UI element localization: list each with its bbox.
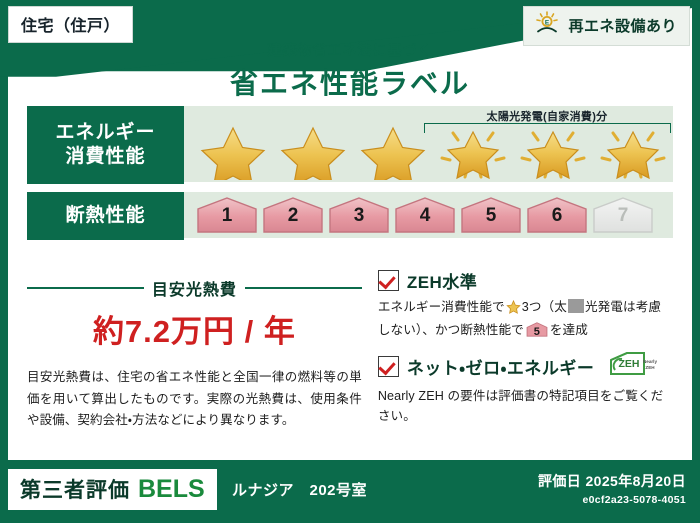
zeh-standard-title: ZEH水準 <box>407 268 478 293</box>
inline-insulation-level-number: 5 <box>526 324 548 342</box>
label-heading: 建築物省エネ法に基づく 省エネ性能ラベル <box>0 40 700 102</box>
energy-performance-label-line2: 消費性能 <box>65 145 145 169</box>
star-1-filled <box>194 124 272 180</box>
performance-block: エネルギー 消費性能 太陽光発電(自家消費)分 <box>27 106 673 248</box>
rule-left <box>27 287 144 289</box>
zeh-standard-body-stars: 3つ（太 <box>522 300 567 314</box>
insulation-level-4-number: 4 <box>394 205 456 227</box>
insulation-level-2: 2 <box>262 196 324 234</box>
insulation-level-6-number: 6 <box>526 205 588 227</box>
svg-text:E: E <box>545 19 550 26</box>
zeh-standard-body: エネルギー消費性能で3つ（太光発電は考慮しない）、かつ断熱性能で5を達成 <box>378 297 673 341</box>
energy-performance-label-line1: エネルギー <box>55 121 155 145</box>
svg-text:Nearly: Nearly <box>643 359 657 364</box>
building-type-tag: 住宅（住戸） <box>8 6 133 43</box>
star-rating <box>184 124 672 180</box>
insulation-performance-row: 断熱性能 <box>27 192 673 240</box>
insulation-level-4: 4 <box>394 196 456 234</box>
star-3-filled <box>354 124 432 180</box>
utility-cost-column: 目安光熱費 約7.2万円 / 年 目安光熱費は、住宅の省エネ性能と全国一律の燃料… <box>27 268 372 448</box>
insulation-level-7-number: 7 <box>592 205 654 227</box>
zeh-standard-item: ZEH水準 エネルギー消費性能で3つ（太光発電は考慮しない）、かつ断熱性能で5を… <box>378 268 673 341</box>
sun-icon: E <box>534 11 560 40</box>
net-zero-energy-item: ネット・ゼロ・エネルギー ZEH Nearly ZEH Nearly ZEH の… <box>378 351 673 427</box>
zeh-standard-body-part3: を達成 <box>550 323 588 337</box>
svg-text:ZEH: ZEH <box>619 358 640 370</box>
insulation-level-scale: 1 2 3 <box>184 196 654 234</box>
net-zero-energy-title: ネット・ゼロ・エネルギー <box>407 354 595 379</box>
energy-performance-stars-area: 太陽光発電(自家消費)分 <box>184 106 673 182</box>
insulation-level-5-number: 5 <box>460 205 522 227</box>
checkmark-icon-net-zero-energy <box>378 356 399 377</box>
renewable-energy-badge: E 再エネ設備あり <box>523 6 690 46</box>
checks-column: ZEH水準 エネルギー消費性能で3つ（太光発電は考慮しない）、かつ断熱性能で5を… <box>372 268 673 448</box>
lower-section: 目安光熱費 約7.2万円 / 年 目安光熱費は、住宅の省エネ性能と全国一律の燃料… <box>27 268 673 448</box>
utility-cost-value: 約7.2万円 / 年 <box>27 306 362 351</box>
checkmark-icon-zeh-standard <box>378 270 399 291</box>
inline-star-icon <box>506 300 521 320</box>
insulation-level-5: 5 <box>460 196 522 234</box>
renewable-energy-badge-label: 再エネ設備あり <box>568 15 677 36</box>
energy-performance-label: 住宅（住戸） E 再エネ設備あり 建築物省エネ法に基づく 省エネ性能ラベル <box>0 0 700 523</box>
zeh-standard-header: ZEH水準 <box>378 268 673 293</box>
rule-right <box>245 287 362 289</box>
net-zero-energy-header: ネット・ゼロ・エネルギー ZEH Nearly ZEH <box>378 351 673 382</box>
star-6-filled-solar <box>594 124 672 180</box>
evaluation-id: e0cf2a23-5078-4051 <box>538 494 686 506</box>
insulation-level-3-number: 3 <box>328 205 390 227</box>
svg-text:ZEH: ZEH <box>646 365 656 370</box>
insulation-level-1: 1 <box>196 196 258 234</box>
insulation-level-2-number: 2 <box>262 205 324 227</box>
star-2-filled <box>274 124 352 180</box>
zeh-standard-body-part1: エネルギー消費性能で <box>378 300 505 314</box>
insulation-performance-label-text: 断熱性能 <box>65 204 145 228</box>
solar-generation-note: 太陽光発電(自家消費)分 <box>422 108 672 124</box>
evaluation-date: 評価日 2025年8月20日 <box>538 471 686 491</box>
bels-badge-en: BELS <box>138 475 205 504</box>
zeh-house-logo-icon: ZEH Nearly ZEH <box>606 351 658 382</box>
utility-cost-note: 目安光熱費は、住宅の省エネ性能と全国一律の燃料等の単価を用いて算出したものです。… <box>27 367 362 432</box>
label-title: 省エネ性能ラベル <box>0 62 700 102</box>
utility-cost-heading-text: 目安光熱費 <box>152 276 237 300</box>
insulation-level-1-number: 1 <box>196 205 258 227</box>
star-5-filled-solar <box>514 124 592 180</box>
energy-performance-label: エネルギー 消費性能 <box>27 106 184 184</box>
net-zero-energy-body: Nearly ZEH の要件は評価書の特記項目をご覧ください。 <box>378 386 673 427</box>
property-room-name: ルナジア 202号室 <box>232 479 367 500</box>
redacted-character <box>568 299 584 313</box>
label-footer: 第三者評価 BELS ルナジア 202号室 評価日 2025年8月20日 e0c… <box>0 461 700 523</box>
inline-insulation-level-icon: 5 <box>526 321 548 338</box>
bels-badge-ja: 第三者評価 <box>20 474 130 504</box>
star-4-filled-solar <box>434 124 512 180</box>
energy-performance-row: エネルギー 消費性能 太陽光発電(自家消費)分 <box>27 106 673 184</box>
insulation-level-3: 3 <box>328 196 390 234</box>
utility-cost-heading: 目安光熱費 <box>27 276 362 300</box>
bels-badge: 第三者評価 BELS <box>8 469 217 510</box>
insulation-level-6: 6 <box>526 196 588 234</box>
insulation-level-7: 7 <box>592 196 654 234</box>
insulation-performance-label: 断熱性能 <box>27 192 184 240</box>
insulation-levels-area: 1 2 3 <box>184 192 673 238</box>
evaluation-info: 評価日 2025年8月20日 e0cf2a23-5078-4051 <box>538 471 686 506</box>
